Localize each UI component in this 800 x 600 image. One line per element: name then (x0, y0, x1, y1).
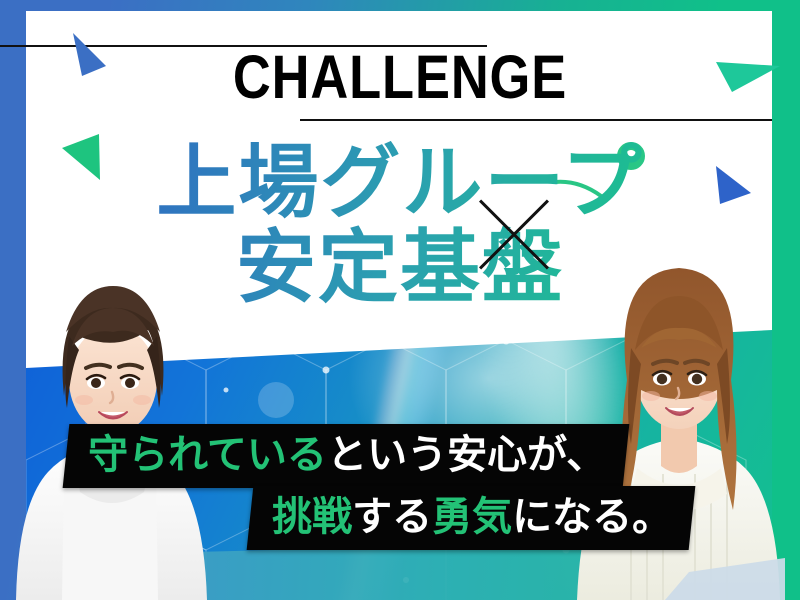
message-2-rest: になる。 (512, 490, 672, 544)
message-2-accent-2: 勇気 (432, 490, 512, 544)
message-1-accent: 守られている (88, 428, 327, 482)
message-2-mid: する (352, 490, 432, 544)
person-left (6, 240, 221, 600)
message-2-accent-1: 挑戦 (272, 490, 352, 544)
cross-multiply-icon (466, 186, 562, 282)
recruit-poster: CHALLENGE 上場グループ 安定基盤 (0, 0, 800, 600)
eyebrow-challenge: CHALLENGE (56, 47, 744, 108)
headline-line-1: 上場グループ (156, 136, 643, 229)
message-1-rest: という安心が、 (327, 428, 606, 482)
message-banner-2: 挑戦する勇気になる。 (247, 486, 696, 550)
rule-bottom (300, 119, 772, 121)
message-banner-1: 守られているという安心が、 (63, 424, 630, 488)
